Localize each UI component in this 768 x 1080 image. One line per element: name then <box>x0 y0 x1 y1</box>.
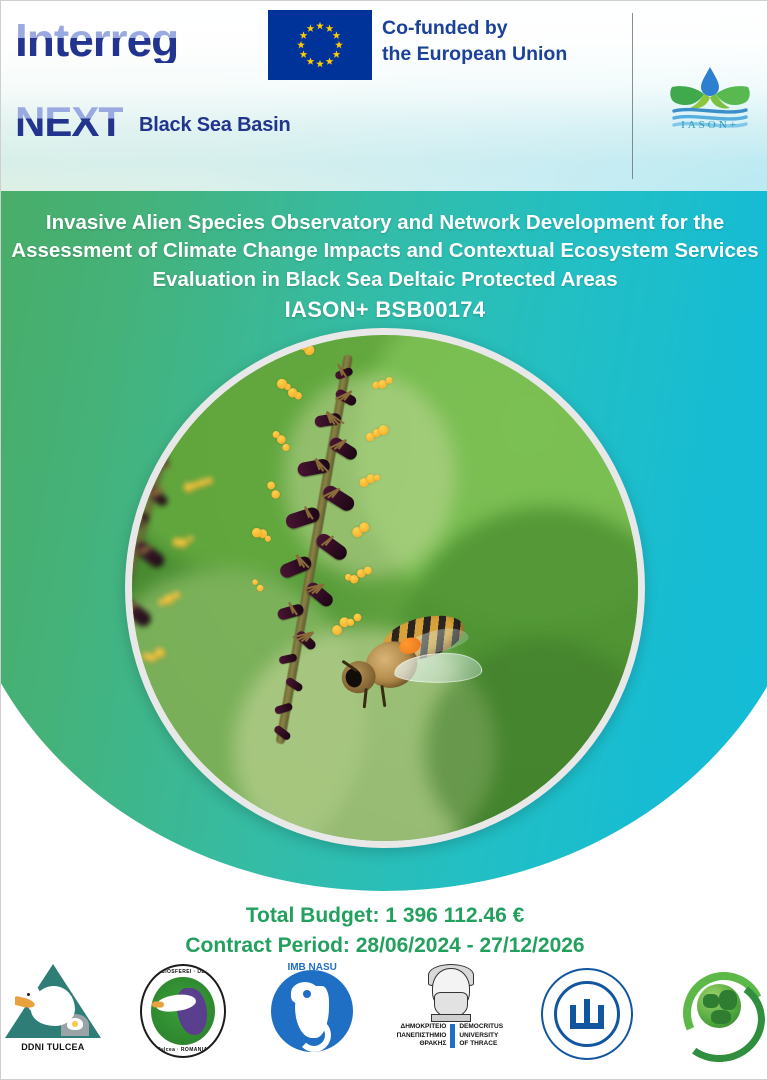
democritus-label-greek: ΔΗΜΟΚΡΙΤΕΙΟ ΠΑΝΕΠΙΣΤΗΜΙΟ ΘΡΑΚΗΣ <box>397 1023 447 1049</box>
pelican-neck <box>21 981 44 1014</box>
democritus-en-1: DEMOCRITUS <box>459 1023 503 1032</box>
ktu-seal-icon <box>541 968 633 1060</box>
page-title: Invasive Alien Species Observatory and N… <box>1 209 768 294</box>
water-lily-icon <box>67 1018 83 1030</box>
project-poster: Interreg NEXT Black Sea Basin Co-funded … <box>0 0 768 1080</box>
partner-logo-ddni-tulcea: DDNI TULCEA <box>1 964 105 1072</box>
seahorse-tail <box>297 1018 331 1052</box>
bee-leg <box>381 685 387 707</box>
imb-seahorse-icon <box>271 970 353 1052</box>
header-divider <box>632 13 633 179</box>
title-line-2: Assessment of Climate Change Impacts and… <box>9 237 761 265</box>
democritus-gr-2: ΠΑΝΕΠΙΣΤΗΜΙΟ <box>397 1032 447 1041</box>
eu-funding-text: Co-funded by the European Union <box>382 16 567 67</box>
partner-logo-ddbra: REZERVATIA BIOSFEREI · DELTA DUNARII Tul… <box>131 964 235 1072</box>
interreg-next-wordmark: NEXT <box>15 101 123 143</box>
partner-logo-ktu <box>536 964 640 1072</box>
ddbra-badge-icon: REZERVATIA BIOSFEREI · DELTA DUNARII Tul… <box>140 964 226 1058</box>
partner-logos: DDNI TULCEA REZERVATIA BIOSFEREI · DELTA… <box>1 964 768 1076</box>
democritus-en-2: UNIVERSITY <box>459 1032 503 1041</box>
title-line-3: Evaluation in Black Sea Deltaic Protecte… <box>9 266 761 294</box>
poster-header: Interreg NEXT Black Sea Basin Co-funded … <box>1 1 768 181</box>
ddbra-ring-text: REZERVATIA BIOSFEREI · DELTA DUNARII Tul… <box>142 966 224 1056</box>
programme-name: Black Sea Basin <box>139 114 291 137</box>
contract-period: Contract Period: 28/06/2024 - 27/12/2026 <box>1 931 768 961</box>
democritus-gr-1: ΔΗΜΟΚΡΙΤΕΙΟ <box>397 1023 447 1032</box>
democritus-divider <box>450 1024 455 1048</box>
partner-logo-business-economics <box>665 964 768 1072</box>
interreg-logo: Interreg <box>15 17 265 63</box>
business-economics-label <box>669 1055 765 1062</box>
partner-logo-democritus: ΔΗΜΟΚΡΙΤΕΙΟ ΠΑΝΕΠΙΣΤΗΜΙΟ ΘΡΑΚΗΣ DEMOCRIT… <box>390 964 510 1072</box>
democritus-label-row: ΔΗΜΟΚΡΙΤΕΙΟ ΠΑΝΕΠΙΣΤΗΜΙΟ ΘΡΑΚΗΣ DEMOCRIT… <box>397 1023 503 1049</box>
ktu-monogram <box>570 999 604 1029</box>
eu-funding-line-1: Co-funded by <box>382 16 567 42</box>
partner-logo-imb-nasu: IMB NASU <box>260 964 364 1072</box>
total-budget: Total Budget: 1 396 112.46 € <box>1 901 768 931</box>
eu-flag-icon <box>268 10 372 80</box>
democritus-gr-3: ΘΡΑΚΗΣ <box>397 1040 447 1049</box>
ddni-pelican-icon <box>15 978 91 1036</box>
title-line-1: Invasive Alien Species Observatory and N… <box>9 209 761 237</box>
partner-label: DDNI TULCEA <box>21 1042 84 1052</box>
project-acronym: IASON+ BSB00174 <box>1 297 768 323</box>
iason-plus-logo-caption: IASON+ <box>664 119 756 131</box>
ddbra-label-bottom: Tulcea · ROMANIA <box>157 1047 207 1053</box>
interreg-wordmark: Interreg <box>15 17 178 63</box>
democritus-en-3: OF THRACE <box>459 1040 503 1049</box>
pelican-eye <box>27 993 30 996</box>
project-photo-frame <box>125 328 645 848</box>
democritus-bust-icon <box>423 964 477 1020</box>
bust-base <box>431 1014 471 1022</box>
funding-details: Total Budget: 1 396 112.46 € Contract Pe… <box>1 901 768 962</box>
bee-leg <box>363 688 368 708</box>
business-economics-icon <box>669 968 765 1060</box>
project-photo <box>132 335 638 841</box>
ddni-triangle-icon <box>5 964 101 1038</box>
eu-funding-line-2: the European Union <box>382 42 567 68</box>
democritus-label-english: DEMOCRITUS UNIVERSITY OF THRACE <box>459 1023 503 1049</box>
globe-icon <box>697 984 741 1028</box>
ddbra-label-top: REZERVATIA BIOSFEREI · DELTA DUNARII <box>140 969 226 975</box>
